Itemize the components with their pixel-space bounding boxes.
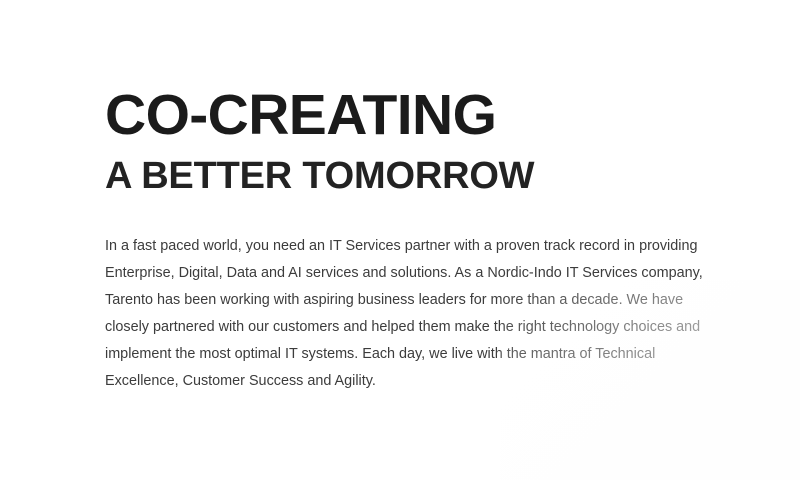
page-title: CO-CREATING [105, 86, 705, 145]
hero-heading-group: CO-CREATING A BETTER TOMORROW [105, 86, 705, 197]
page-subtitle: A BETTER TOMORROW [105, 157, 705, 197]
hero-description-paragraph: In a fast paced world, you need an IT Se… [105, 233, 705, 395]
hero-section: CO-CREATING A BETTER TOMORROW In a fast … [0, 0, 800, 480]
